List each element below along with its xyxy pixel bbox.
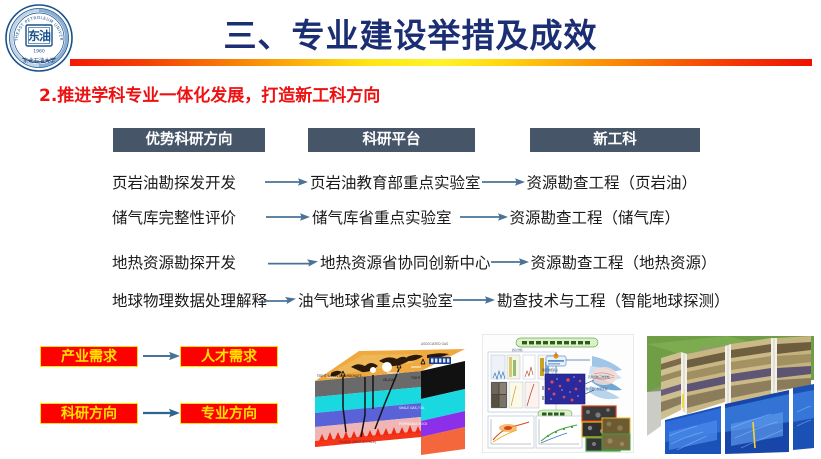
- svg-text:储层微观表征: 储层微观表征: [542, 368, 558, 372]
- cell-new-engineering-major: 资源勘查工程（页岩油）: [527, 171, 698, 193]
- svg-text:孔隙结构三维重构: 孔隙结构三维重构: [588, 375, 610, 379]
- cell-research-platform: 地热资源省协同创新中心: [320, 251, 491, 273]
- svg-text:ASSOCIATED GAS: ASSOCIATED GAS: [421, 342, 448, 346]
- arrow-right-icon: [264, 175, 310, 189]
- arrow-right-icon: [142, 406, 182, 420]
- seismic-3d-visualization-image: [647, 336, 814, 454]
- flow-row: 地球物理数据处理解释 油气地球省重点实验室 勘查技术与工程（智能地球探测）: [112, 288, 812, 312]
- column-header-new-engineering: 新工科: [530, 128, 700, 152]
- arrow-right-icon: [264, 255, 320, 269]
- cell-new-engineering-major: 勘查技术与工程（智能地球探测）: [497, 289, 730, 311]
- flow-row: 页岩油勘探发开发 页岩油教育部重点实验室 资源勘查工程（页岩油）: [112, 170, 812, 194]
- cell-new-engineering-major: 资源勘查工程（储气库）: [510, 206, 681, 228]
- cell-research-direction: 储气库完整性评价: [112, 206, 264, 228]
- arrow-right-icon: [453, 293, 497, 307]
- svg-text:MAGMA (HEAT SOURCE): MAGMA (HEAT SOURCE): [339, 440, 376, 444]
- need-box-talent-demand: 人才需求: [180, 346, 278, 367]
- need-box-industry-demand: 产业需求: [40, 346, 138, 367]
- svg-text:PERMEABLE ROCK: PERMEABLE ROCK: [399, 422, 428, 426]
- cell-research-direction: 地热资源勘探开发: [112, 251, 264, 273]
- flow-row: 地热资源勘探开发 地热资源省协同创新中心 资源勘查工程（地热资源）: [112, 250, 812, 274]
- svg-text:OIL/GAS: OIL/GAS: [383, 378, 396, 382]
- cell-research-platform: 页岩油教育部重点实验室: [310, 171, 481, 193]
- arrow-right-icon: [491, 255, 531, 269]
- svg-text:TIGHT SANDS & CARBONATE: TIGHT SANDS & CARBONATE: [316, 374, 362, 378]
- cell-research-platform: 油气地球省重点实验室: [298, 289, 453, 311]
- page-title: 三、专业建设举措及成效: [0, 9, 821, 57]
- cell-research-platform: 储气库省重点实验室: [312, 206, 452, 228]
- need-box-research-direction: 科研方向: [40, 403, 138, 424]
- arrow-right-icon: [452, 210, 510, 224]
- svg-text:SHALE GAS / OIL: SHALE GAS / OIL: [399, 406, 425, 410]
- research-poster-panel-image: 储层微观表征 孔隙结构三维重构 数字岩心智能反演 岩心分析: [482, 334, 634, 453]
- cell-research-direction: 页岩油勘探发开发: [112, 171, 264, 193]
- geology-block-diagram-image: TIGHT SANDS & CARBONATE OIL/GAS TIGHT GA…: [303, 337, 475, 455]
- flow-row: 储气库完整性评价 储气库省重点实验室 资源勘查工程（储气库）: [112, 205, 812, 229]
- need-box-major-direction: 专业方向: [180, 403, 278, 424]
- column-header-research-direction: 优势科研方向: [113, 128, 265, 152]
- cell-research-direction: 地球物理数据处理解释: [112, 289, 264, 311]
- arrow-right-icon: [481, 175, 527, 189]
- arrow-right-icon: [142, 349, 182, 363]
- slide-canvas: NORTHEAST PETROLEUM UNIVERSITY 东 油 1960 …: [0, 0, 821, 459]
- title-gradient-divider: [70, 59, 812, 66]
- svg-text:岩心分析: 岩心分析: [512, 348, 523, 352]
- svg-text:东北石油大学: 东北石油大学: [23, 57, 56, 65]
- svg-text:数字岩心智能反演: 数字岩心智能反演: [586, 387, 608, 391]
- arrow-right-icon: [264, 210, 312, 224]
- arrow-right-icon: [264, 293, 298, 307]
- column-header-research-platform: 科研平台: [308, 128, 475, 152]
- cell-new-engineering-major: 资源勘查工程（地热资源）: [531, 251, 717, 273]
- svg-text:TIGHT GAS: TIGHT GAS: [410, 376, 428, 380]
- section-subtitle: 2.推进学科专业一体化发展，打造新工科方向: [39, 81, 380, 106]
